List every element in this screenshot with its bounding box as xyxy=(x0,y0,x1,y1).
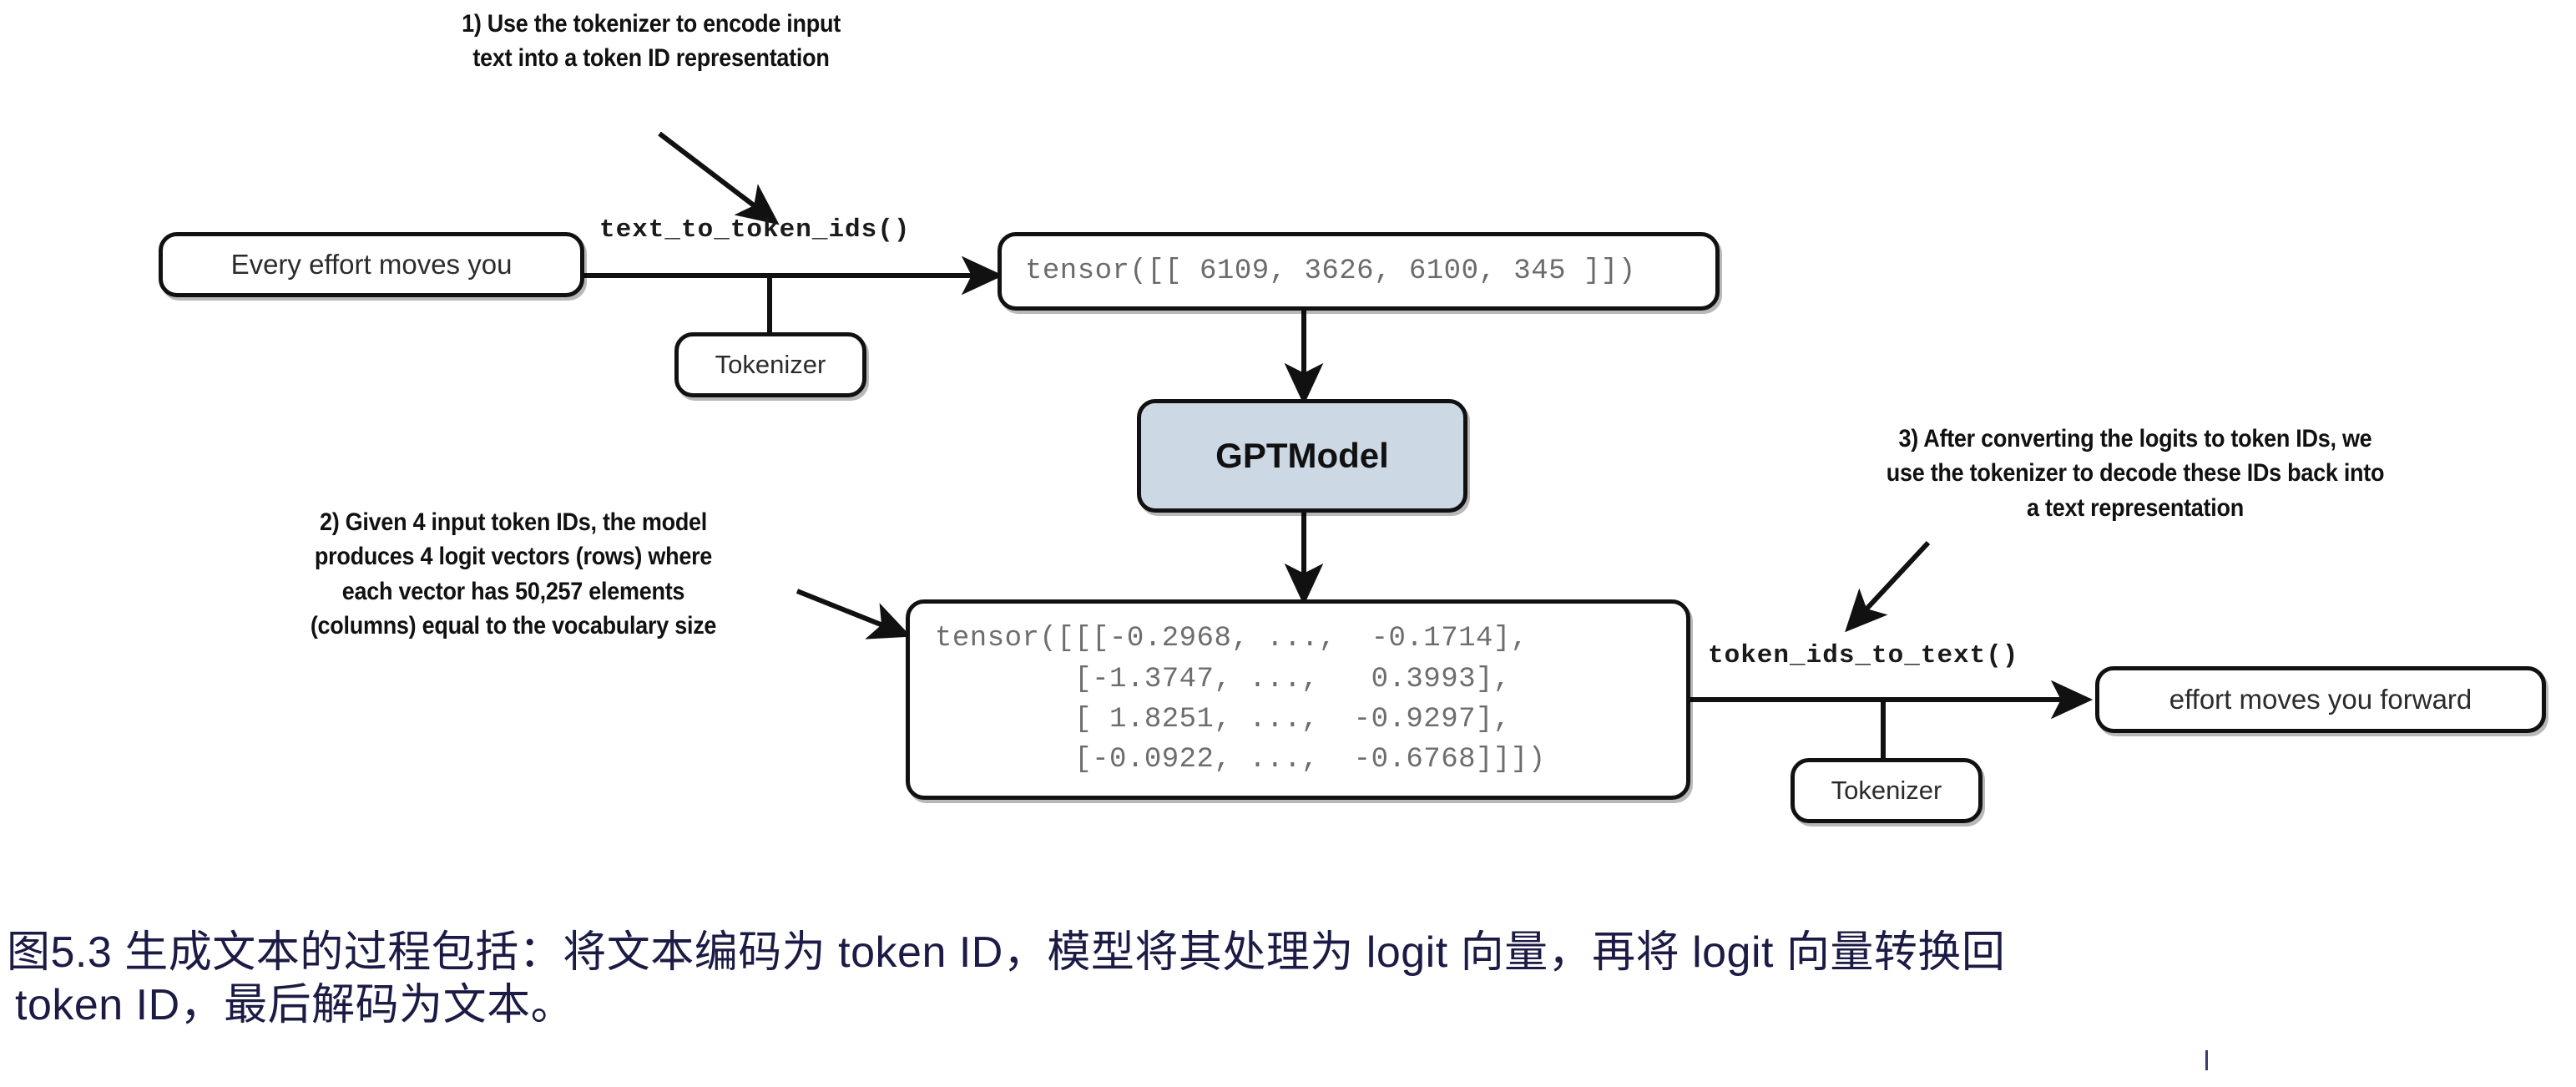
token-ids-tensor-box[interactable]: tensor([[ 6109, 3626, 6100, 345 ]]) xyxy=(998,232,1720,311)
arrow-annotation1 xyxy=(659,134,775,221)
annotation-2-text: 2) Given 4 input token IDs, the model pr… xyxy=(235,505,791,644)
decode-function-label: token_ids_to_text() xyxy=(1708,641,2018,670)
figure-caption: 图5.3 生成文本的过程包括：将文本编码为 token ID，模型将其处理为 l… xyxy=(7,927,2569,1033)
output-text-box[interactable]: effort moves you forward xyxy=(2095,666,2546,733)
logits-tensor-text: tensor([[[-0.2968, ..., -0.1714], [-1.37… xyxy=(935,619,1546,780)
logits-tensor-box[interactable]: tensor([[[-0.2968, ..., -0.1714], [-1.37… xyxy=(906,599,1690,800)
input-text-box[interactable]: Every effort moves you xyxy=(159,232,584,297)
tokenizer-decode-label: Tokenizer xyxy=(1831,776,1942,806)
tokenizer-decode-box[interactable]: Tokenizer xyxy=(1791,758,1983,823)
encode-function-label: text_to_token_ids() xyxy=(599,215,910,245)
tokenizer-encode-box[interactable]: Tokenizer xyxy=(674,332,866,397)
arrow-annotation2 xyxy=(797,591,906,635)
arrow-annotation3 xyxy=(1849,543,1928,628)
gpt-model-box[interactable]: GPTModel xyxy=(1137,399,1467,513)
caption-line-1: 图5.3 生成文本的过程包括：将文本编码为 token ID，模型将其处理为 l… xyxy=(7,928,2005,977)
annotation-1-text: 1) Use the tokenizer to encode input tex… xyxy=(366,7,937,76)
input-text-label: Every effort moves you xyxy=(231,249,513,281)
figure-canvas: 1) Use the tokenizer to encode input tex… xyxy=(0,0,2576,1087)
caption-line-2: token ID，最后解码为文本。 xyxy=(7,979,2569,1032)
text-cursor-caret xyxy=(2205,1050,2208,1070)
token-ids-tensor-text: tensor([[ 6109, 3626, 6100, 345 ]]) xyxy=(1025,255,1636,287)
tokenizer-encode-label: Tokenizer xyxy=(715,350,826,380)
annotation-3-text: 3) After converting the logits to token … xyxy=(1805,422,2466,525)
output-text-label: effort moves you forward xyxy=(2169,684,2472,715)
gpt-model-label: GPTModel xyxy=(1215,436,1389,476)
